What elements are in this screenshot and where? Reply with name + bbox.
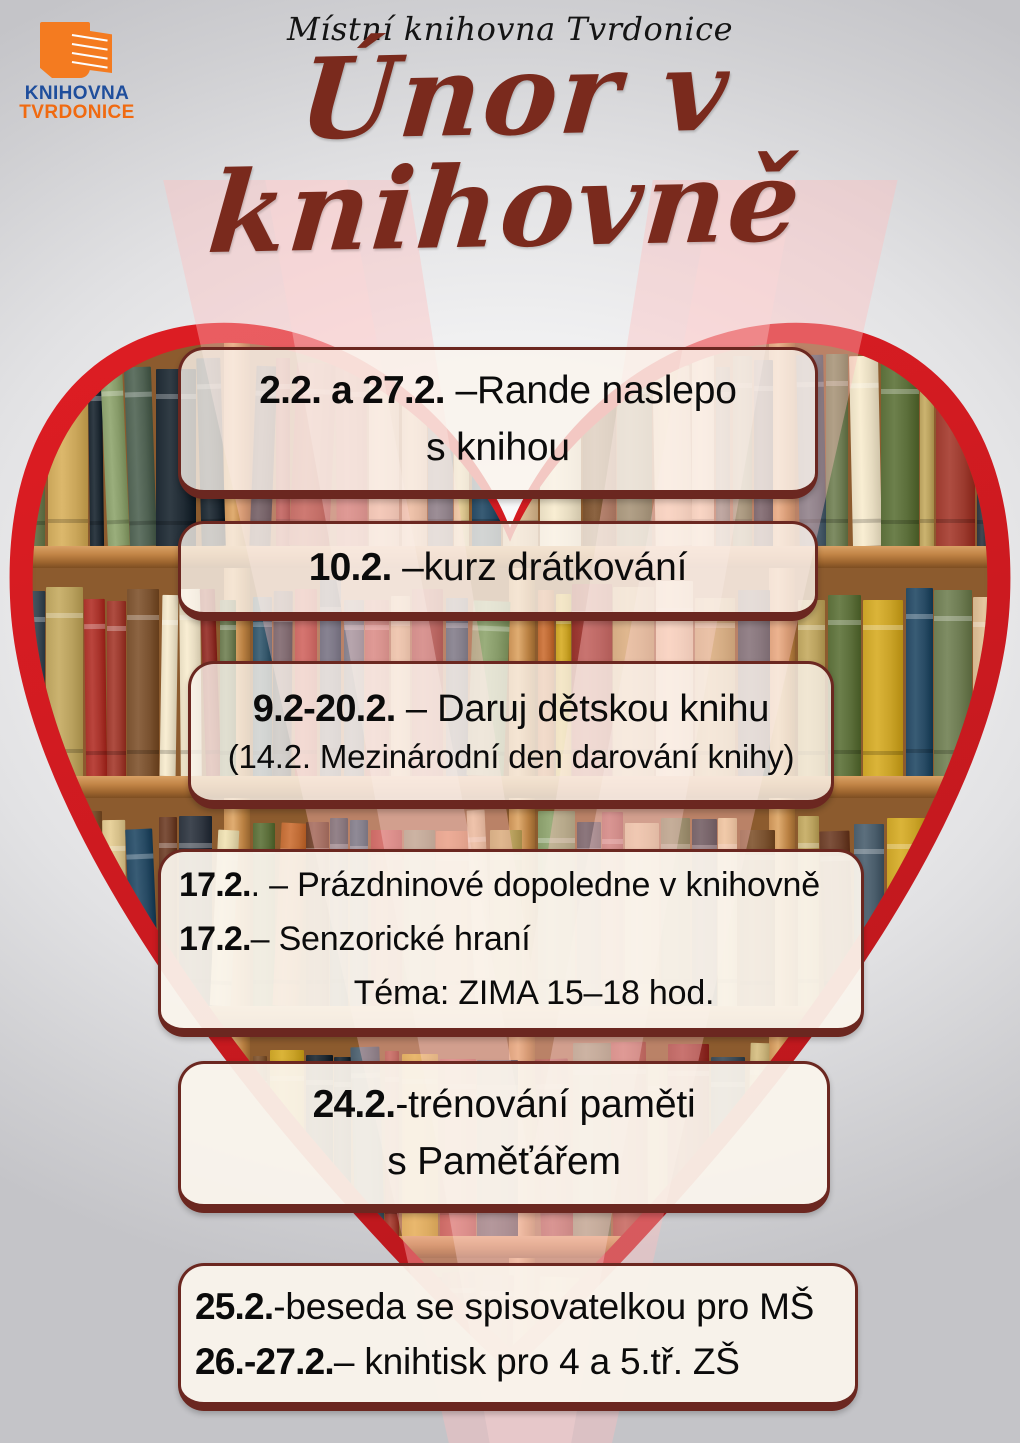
event-date: 24.2.	[313, 1083, 396, 1126]
event-line: 24.2.-trénování paměti	[181, 1077, 827, 1134]
poster-root: KNIHOVNA TVRDONICE Místní knihovna Tvrdo…	[0, 0, 1020, 1443]
event-date: 10.2.	[309, 546, 392, 589]
event-line: 10.2. –kurz drátkování	[181, 547, 815, 590]
event-line-theme: Téma: ZIMA 15–18 hod.	[179, 967, 843, 1021]
event-line: 17.2.. – Prázdninové dopoledne v knihovn…	[179, 859, 843, 913]
event-line: s knihou	[181, 420, 815, 477]
event-text: –Rande naslepo	[445, 369, 737, 412]
event-date: 2.2. a 27.2.	[259, 369, 445, 412]
event-card-rande-naslepo[interactable]: 2.2. a 27.2. –Rande naslepo s knihou	[178, 347, 818, 499]
event-date: 17.2.	[179, 920, 251, 958]
poster-title: Únor v knihovně	[0, 29, 1020, 274]
poster-header: KNIHOVNA TVRDONICE Místní knihovna Tvrdo…	[0, 0, 1020, 185]
event-text: -beseda se spisovatelkou pro MŠ	[273, 1286, 814, 1327]
event-line-note: (14.2. Mezinárodní den darování knihy)	[191, 735, 831, 780]
event-line: 25.2.-beseda se spisovatelkou pro MŠ	[181, 1279, 855, 1335]
event-line: 2.2. a 27.2. –Rande naslepo	[181, 363, 815, 420]
event-line: 26.-27.2.– knihtisk pro 4 a 5.tř. ZŠ	[181, 1334, 855, 1390]
event-line: 9.2-20.2. – Daruj dětskou knihu	[191, 684, 831, 735]
event-text: – knihtisk pro 4 a 5.tř. ZŠ	[334, 1341, 740, 1382]
event-text: – Senzorické hraní	[251, 920, 531, 958]
event-card-kurz-dratkovani[interactable]: 10.2. –kurz drátkování	[178, 521, 818, 621]
event-card-daruj-detskou-knihu[interactable]: 9.2-20.2. – Daruj dětskou knihu (14.2. M…	[188, 661, 834, 809]
event-date: 17.2.	[179, 866, 251, 904]
event-card-prazdninove-dopoledne[interactable]: 17.2.. – Prázdninové dopoledne v knihovn…	[158, 849, 864, 1037]
event-date: 9.2-20.2.	[253, 688, 396, 730]
event-line: s Paměťářem	[181, 1134, 827, 1191]
event-text: -trénování paměti	[395, 1083, 695, 1126]
event-date: 26.-27.2.	[195, 1341, 334, 1382]
event-text: –kurz drátkování	[392, 546, 688, 589]
event-date: 25.2.	[195, 1286, 273, 1327]
event-text: – Daruj dětskou knihu	[396, 688, 770, 730]
event-card-beseda-knihtisk[interactable]: 25.2.-beseda se spisovatelkou pro MŠ 26.…	[178, 1263, 858, 1411]
event-text: . – Prázdninové dopoledne v knihovně	[251, 866, 820, 904]
event-card-trenovani-pameti[interactable]: 24.2.-trénování paměti s Paměťářem	[178, 1061, 830, 1213]
event-line: 17.2.– Senzorické hraní	[179, 913, 843, 967]
